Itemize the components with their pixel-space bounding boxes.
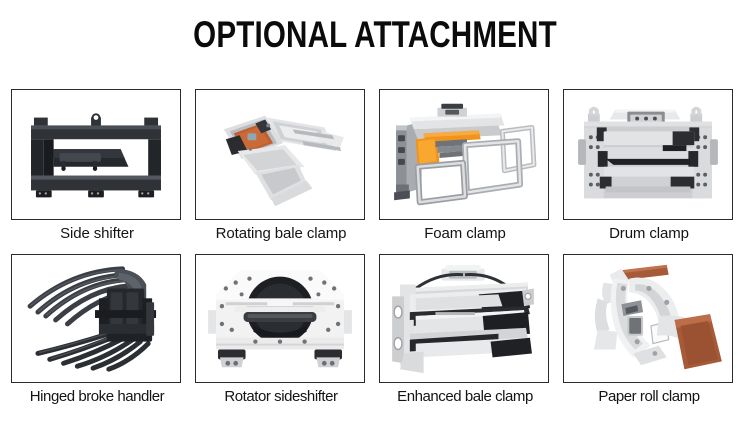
gallery-item-rotator-sideshifter[interactable]: Rotator sideshifter — [195, 254, 367, 407]
rotator-sideshifter-image — [196, 255, 364, 382]
gallery-item-foam-clamp[interactable]: Foam clamp — [379, 89, 551, 244]
drum-clamp-image — [564, 90, 732, 219]
product-image-frame[interactable] — [11, 89, 181, 220]
product-image-frame[interactable] — [195, 89, 365, 220]
attachment-gallery-grid: Side shifter — [11, 89, 737, 407]
side-shifter-image — [12, 90, 180, 219]
gallery-item-paper-roll-clamp[interactable]: Paper roll clamp — [563, 254, 735, 407]
product-label: Drum clamp — [563, 224, 735, 244]
foam-clamp-image — [380, 90, 548, 219]
gallery-item-hinged-broke-handler[interactable]: Hinged broke handler — [11, 254, 183, 407]
hinged-broke-handler-image — [12, 255, 180, 382]
product-label: Enhanced bale clamp — [379, 387, 551, 407]
page-title: OPTIONAL ATTACHMENT — [75, 14, 675, 56]
product-image-frame[interactable] — [379, 254, 549, 383]
product-image-frame[interactable] — [563, 254, 733, 383]
product-label: Hinged broke handler — [11, 387, 183, 407]
product-image-frame[interactable] — [379, 89, 549, 220]
product-label: Foam clamp — [379, 224, 551, 244]
product-label: Side shifter — [11, 224, 183, 244]
rotating-bale-clamp-image — [196, 90, 364, 219]
product-label: Rotator sideshifter — [195, 387, 367, 407]
product-image-frame[interactable] — [195, 254, 365, 383]
gallery-item-side-shifter[interactable]: Side shifter — [11, 89, 183, 244]
product-label: Rotating bale clamp — [195, 224, 367, 244]
gallery-item-drum-clamp[interactable]: Drum clamp — [563, 89, 735, 244]
gallery-item-rotating-bale-clamp[interactable]: Rotating bale clamp — [195, 89, 367, 244]
paper-roll-clamp-image — [564, 255, 732, 382]
product-image-frame[interactable] — [563, 89, 733, 220]
product-label: Paper roll clamp — [563, 387, 735, 407]
gallery-item-enhanced-bale-clamp[interactable]: Enhanced bale clamp — [379, 254, 551, 407]
enhanced-bale-clamp-image — [380, 255, 548, 382]
product-image-frame[interactable] — [11, 254, 181, 383]
